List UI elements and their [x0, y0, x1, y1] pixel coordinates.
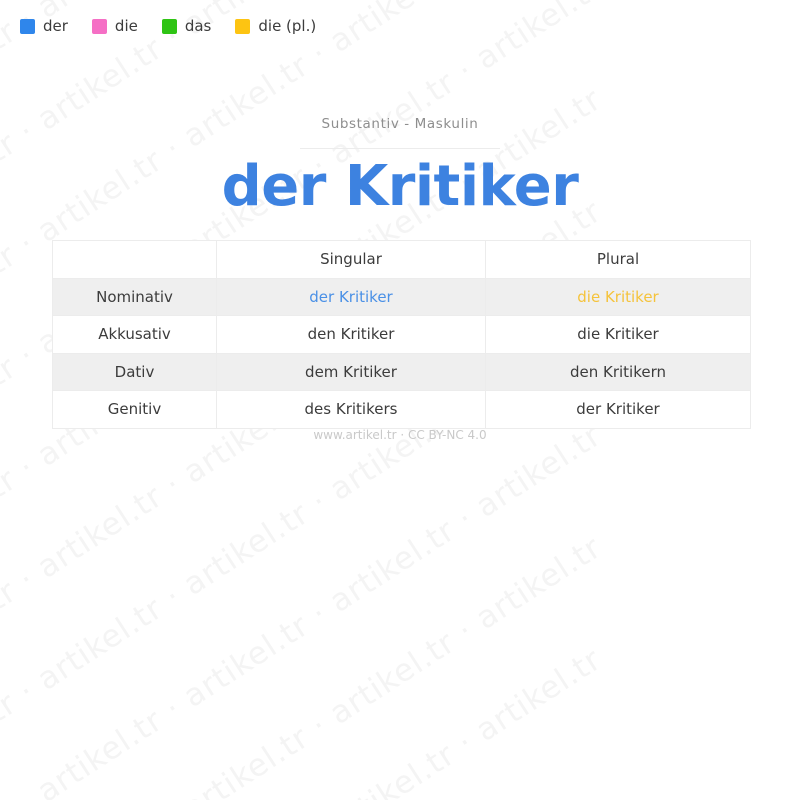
- table-row: Nominativder Kritikerdie Kritiker: [53, 278, 751, 316]
- header-divider: [300, 148, 500, 149]
- column-header-case: [53, 241, 217, 279]
- legend-item-diepl: die (pl.): [235, 17, 316, 35]
- legend-item-label: die (pl.): [258, 17, 316, 35]
- cell-case-nominativ: Nominativ: [53, 278, 217, 316]
- table-row: Dativdem Kritikerden Kritikern: [53, 353, 751, 391]
- cell-case-dativ: Dativ: [53, 353, 217, 391]
- part-of-speech-label: Substantiv - Maskulin: [0, 116, 800, 132]
- table-header: Singular Plural: [53, 241, 751, 279]
- cell-singular: des Kritikers: [217, 391, 486, 429]
- cell-singular: der Kritiker: [217, 278, 486, 316]
- legend-item-das: das: [162, 17, 212, 35]
- cell-plural: der Kritiker: [486, 391, 751, 429]
- cell-singular: den Kritiker: [217, 316, 486, 354]
- column-header-plural: Plural: [486, 241, 751, 279]
- legend-item-die: die: [92, 17, 138, 35]
- footer-attribution: www.artikel.tr · CC BY-NC 4.0: [0, 428, 800, 442]
- legend-item-label: der: [43, 17, 68, 35]
- article-legend: derdiedasdie (pl.): [20, 17, 316, 35]
- word-meta: Substantiv - Maskulin: [0, 116, 800, 149]
- cell-plural: die Kritiker: [486, 316, 751, 354]
- legend-item-label: das: [185, 17, 212, 35]
- table-body: Nominativder Kritikerdie KritikerAkkusat…: [53, 278, 751, 428]
- declension-table: Singular Plural Nominativder Kritikerdie…: [52, 240, 751, 429]
- watermark-text: artikel.tr · artikel.tr · artikel.tr · a…: [0, 644, 607, 800]
- cell-plural: die Kritiker: [486, 278, 751, 316]
- legend-item-der: der: [20, 17, 68, 35]
- cell-singular: dem Kritiker: [217, 353, 486, 391]
- column-header-singular: Singular: [217, 241, 486, 279]
- cell-case-akkusativ: Akkusativ: [53, 316, 217, 354]
- table-header-row: Singular Plural: [53, 241, 751, 279]
- legend-item-label: die: [115, 17, 138, 35]
- cell-plural: den Kritikern: [486, 353, 751, 391]
- page-title: der Kritiker: [0, 156, 800, 218]
- conjugation-card: derdiedasdie (pl.) Substantiv - Maskulin…: [0, 0, 800, 533]
- cell-case-genitiv: Genitiv: [53, 391, 217, 429]
- color-swatch-icon: [162, 19, 177, 34]
- color-swatch-icon: [92, 19, 107, 34]
- color-swatch-icon: [20, 19, 35, 34]
- color-swatch-icon: [235, 19, 250, 34]
- table-row: Akkusativden Kritikerdie Kritiker: [53, 316, 751, 354]
- watermark-text: artikel.tr · artikel.tr · artikel.tr · a…: [0, 532, 607, 800]
- table-row: Genitivdes Kritikersder Kritiker: [53, 391, 751, 429]
